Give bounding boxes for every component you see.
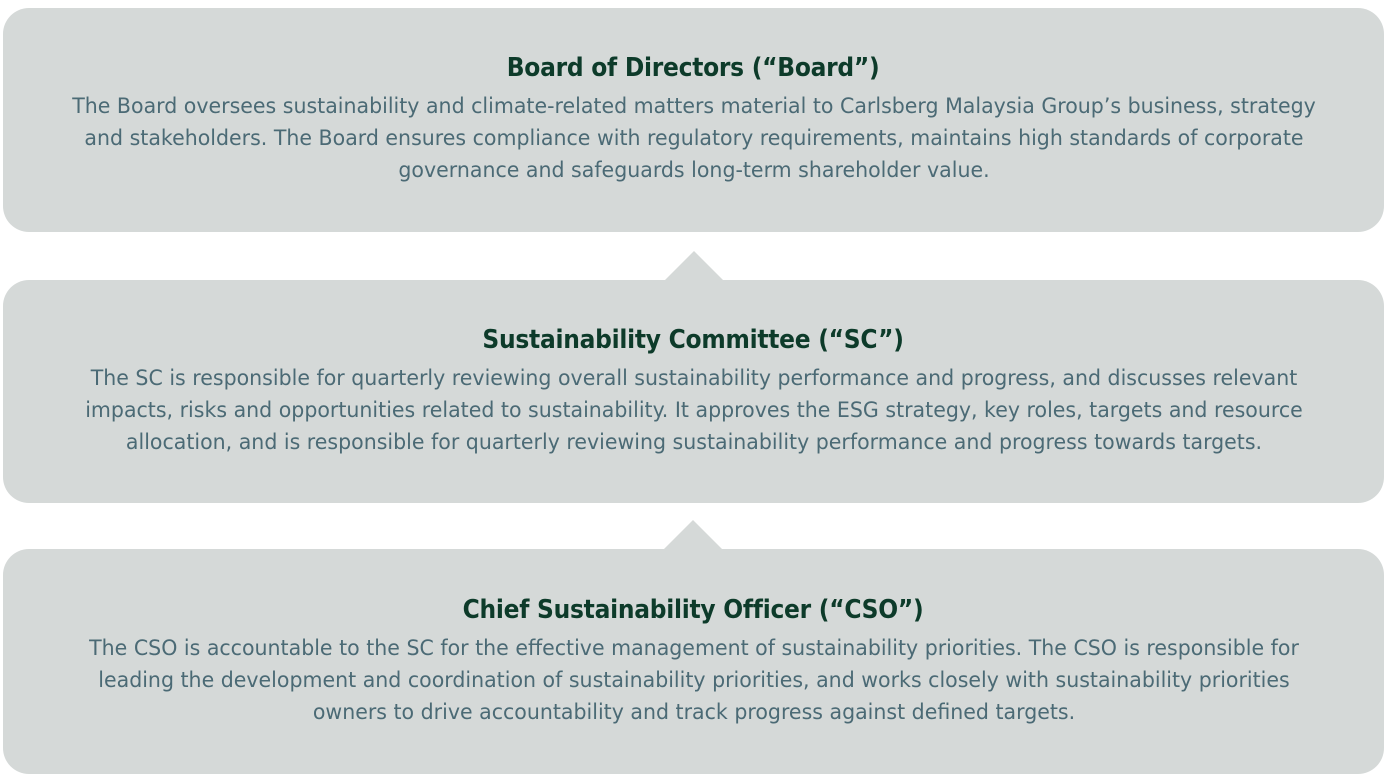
governance-box-board-of-directors: Board of Directors (“Board”) The Board o… [3,8,1384,232]
governance-structure-diagram: Board of Directors (“Board”) The Board o… [0,0,1390,781]
box-title-board-of-directors: Board of Directors (“Board”) [507,53,880,84]
triangle-up-icon-sc-connector [664,520,722,549]
box-body-sustainability-committee: The SC is responsible for quarterly revi… [58,363,1328,458]
box-title-sustainability-committee: Sustainability Committee (“SC”) [483,325,904,356]
governance-box-chief-sustainability-officer: Chief Sustainability Officer (“CSO”) The… [3,549,1384,774]
governance-box-sustainability-committee: Sustainability Committee (“SC”) The SC i… [3,280,1384,503]
box-body-board-of-directors: The Board oversees sustainability and cl… [58,91,1328,186]
box-title-chief-sustainability-officer: Chief Sustainability Officer (“CSO”) [463,595,924,626]
triangle-up-icon-board-connector [665,251,723,280]
box-body-chief-sustainability-officer: The CSO is accountable to the SC for the… [58,633,1328,728]
